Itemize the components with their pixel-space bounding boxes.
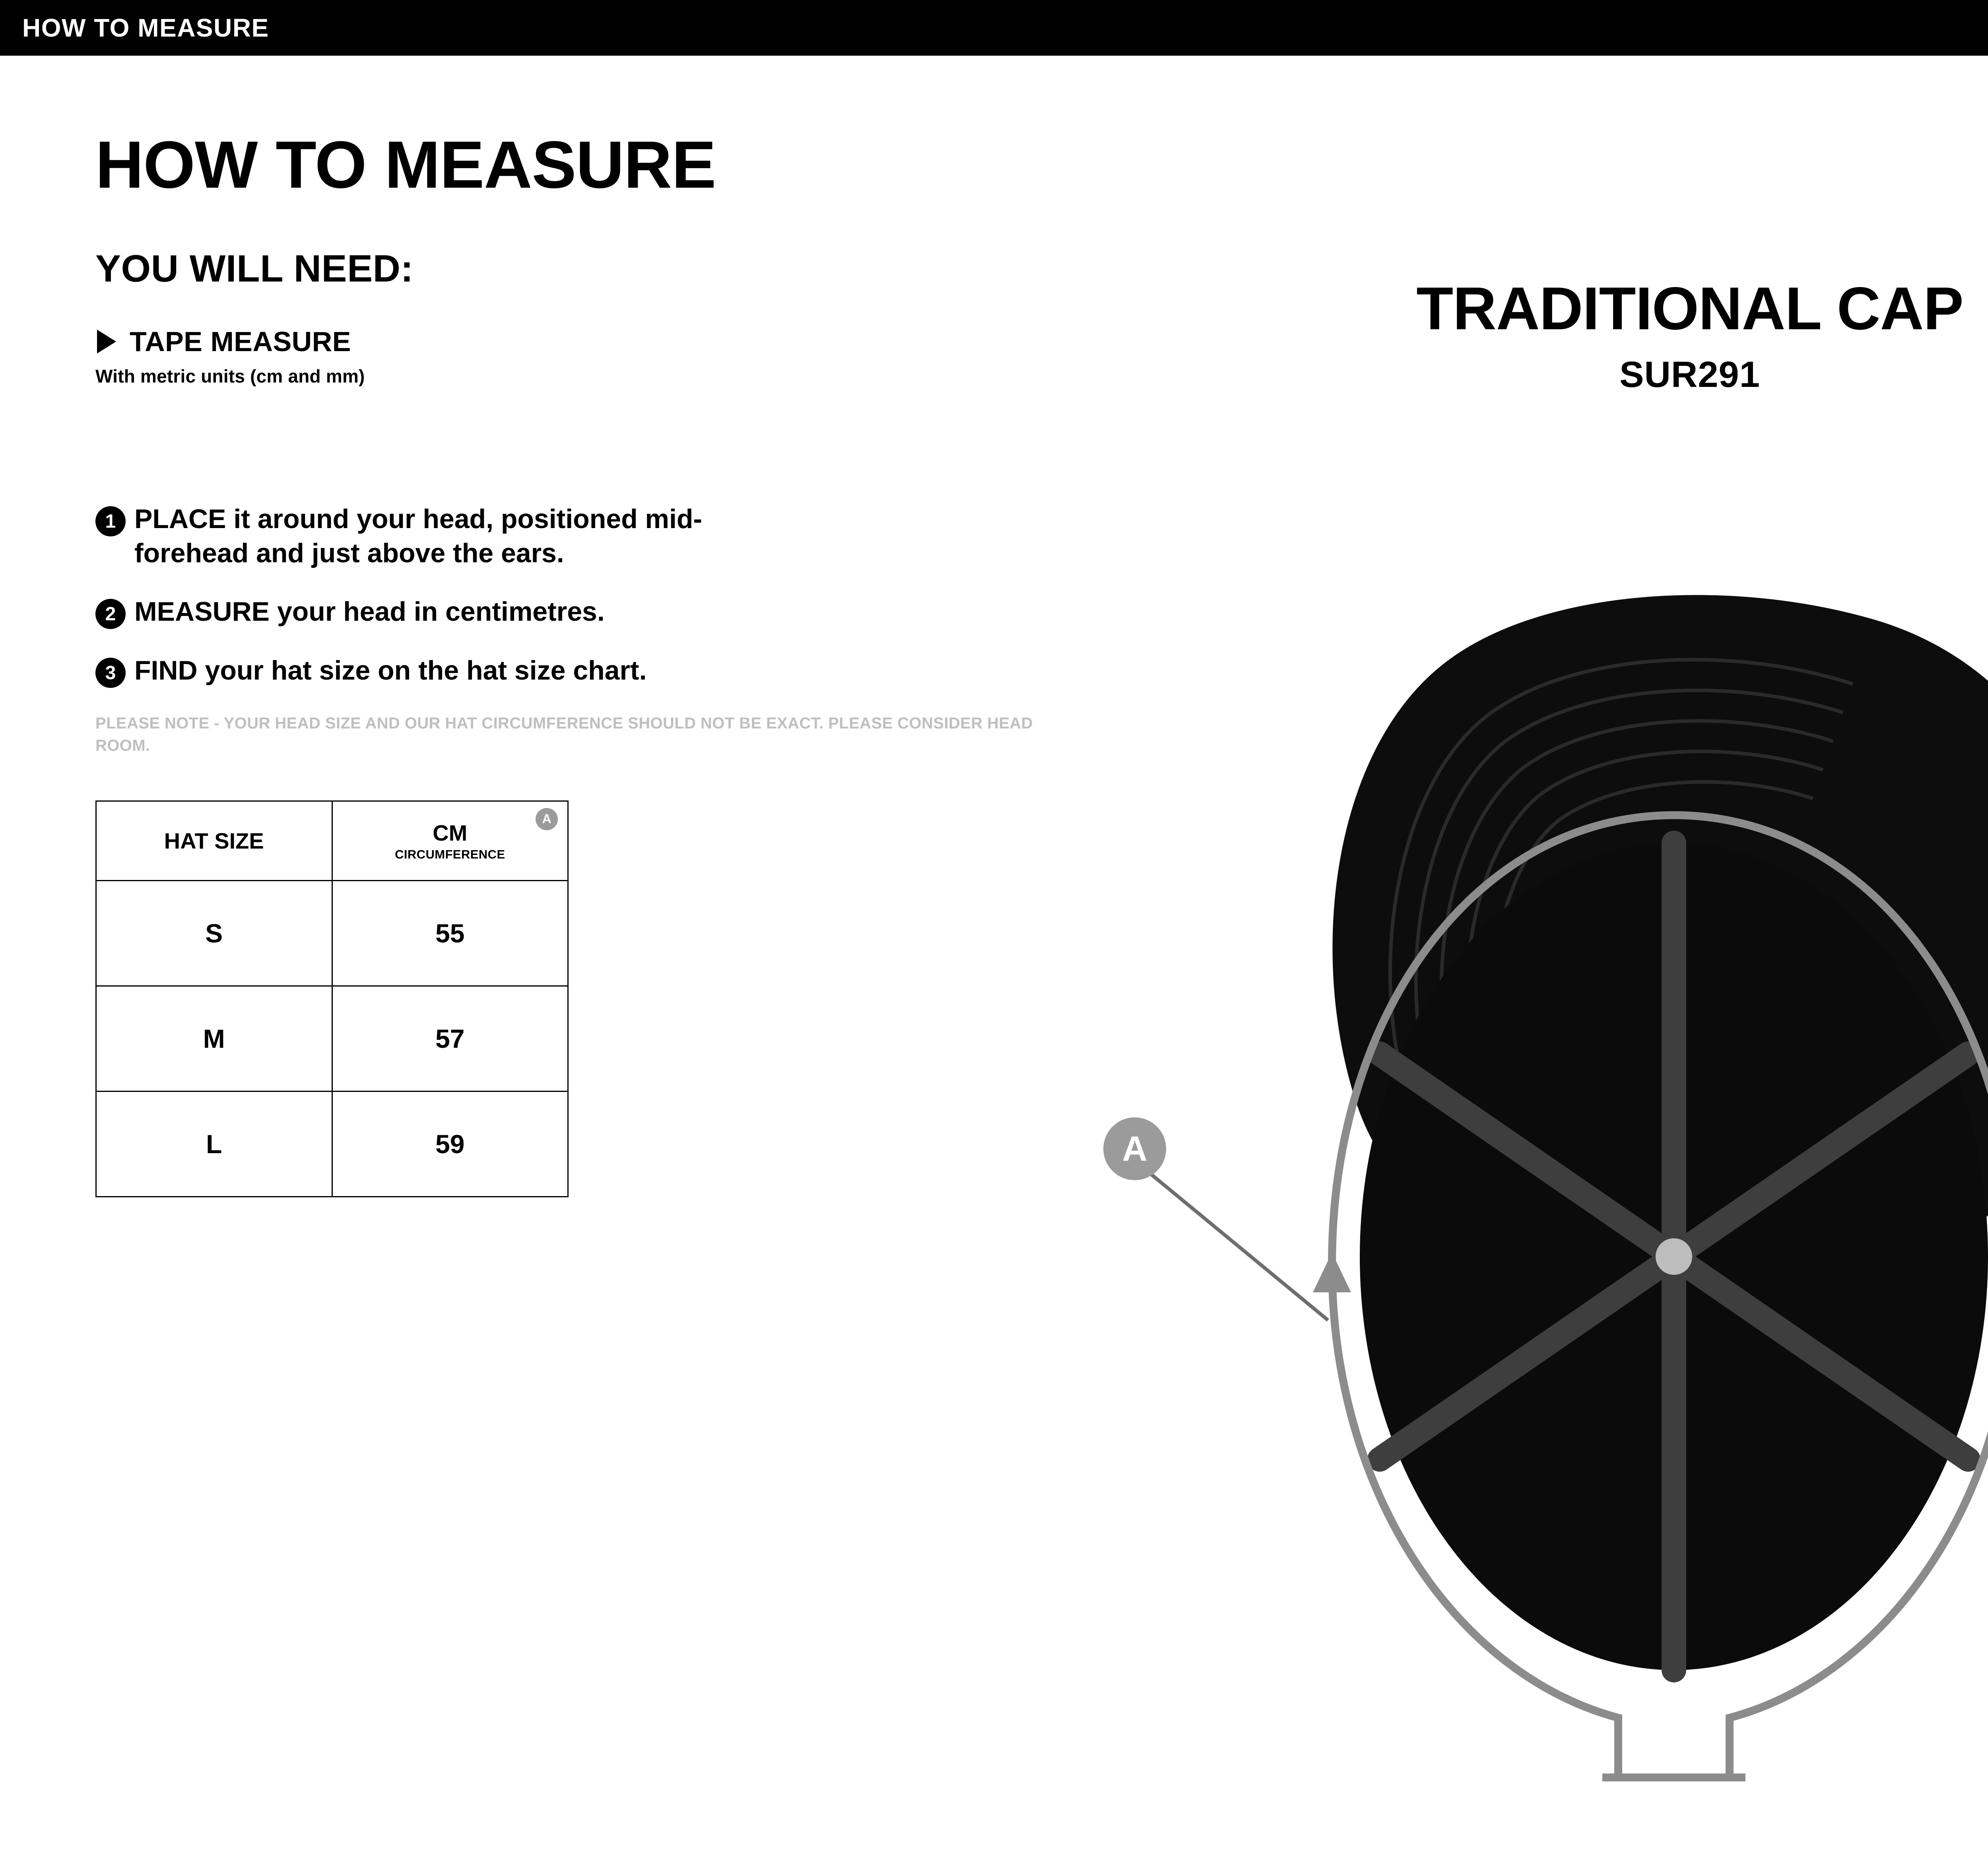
step-item: 3 FIND your hat size on the hat size cha… bbox=[95, 654, 1050, 688]
step-number-badge: 3 bbox=[95, 658, 126, 688]
need-item-label: TAPE MEASURE bbox=[130, 326, 351, 357]
table-row: L 59 bbox=[96, 1091, 568, 1196]
step-item: 2 MEASURE your head in centimetres. bbox=[95, 595, 1050, 629]
callout-leader-line bbox=[1135, 1161, 1328, 1320]
step-number-badge: 1 bbox=[95, 506, 126, 536]
table-header-cm-main: CM bbox=[333, 820, 567, 846]
cell-cm: 55 bbox=[332, 880, 568, 986]
left-column: HOW TO MEASURE YOU WILL NEED: TAPE MEASU… bbox=[95, 131, 1050, 1197]
step-item: 1 PLACE it around your head, positioned … bbox=[95, 502, 1050, 570]
table-header-row: HAT SIZE CM CIRCUMFERENCE A bbox=[96, 801, 568, 880]
top-bar: HOW TO MEASURE SS SURRIDGE bbox=[0, 0, 1988, 56]
table-row: M 57 bbox=[96, 986, 568, 1091]
step-text: MEASURE your head in centimetres. bbox=[134, 595, 605, 629]
cell-cm: 59 bbox=[332, 1091, 568, 1196]
need-item-row: TAPE MEASURE bbox=[95, 326, 1050, 357]
product-title: TRADITIONAL CAP bbox=[1074, 278, 1988, 339]
hat-size-table: HAT SIZE CM CIRCUMFERENCE A S 55 M 57 L … bbox=[95, 800, 569, 1197]
right-column: TRADITIONAL CAP SUR291 bbox=[1074, 278, 1988, 396]
step-lead-word: MEASURE bbox=[134, 596, 270, 627]
page-title: HOW TO MEASURE bbox=[95, 131, 1050, 198]
table-header-hat-size: HAT SIZE bbox=[96, 801, 332, 880]
need-item-subtext: With metric units (cm and mm) bbox=[95, 365, 1050, 387]
top-bar-title: HOW TO MEASURE bbox=[22, 13, 269, 43]
step-rest-text: your head in centimetres. bbox=[270, 596, 605, 627]
steps-list: 1 PLACE it around your head, positioned … bbox=[95, 502, 1050, 688]
table-header-cm-sub: CIRCUMFERENCE bbox=[333, 847, 567, 862]
cell-hat-size: L bbox=[96, 1091, 332, 1196]
measurement-badge-a-icon: A bbox=[536, 808, 558, 830]
step-lead-word: FIND bbox=[134, 655, 198, 686]
table-header-cm: CM CIRCUMFERENCE A bbox=[332, 801, 568, 880]
product-code: SUR291 bbox=[1074, 354, 1988, 396]
please-note-text: PLEASE NOTE - YOUR HEAD SIZE AND OUR HAT… bbox=[95, 713, 1050, 756]
cap-crown-shape bbox=[1360, 843, 1988, 1670]
step-rest-text: your hat size on the hat size chart. bbox=[198, 655, 647, 686]
triangle-bullet-icon bbox=[97, 330, 116, 354]
cell-cm: 57 bbox=[332, 986, 568, 1091]
cell-hat-size: S bbox=[96, 880, 332, 986]
step-text: FIND your hat size on the hat size chart… bbox=[134, 654, 646, 688]
step-text: PLACE it around your head, positioned mi… bbox=[134, 502, 802, 570]
you-will-need-heading: YOU WILL NEED: bbox=[95, 250, 1050, 288]
cell-hat-size: M bbox=[96, 986, 332, 1091]
arc-arrow-left-icon bbox=[1313, 1253, 1351, 1292]
table-row: S 55 bbox=[96, 880, 568, 986]
cap-diagram bbox=[1054, 565, 1988, 1849]
step-number-badge: 2 bbox=[95, 599, 126, 629]
step-lead-word: PLACE bbox=[134, 504, 226, 534]
callout-badge-a-icon: A bbox=[1103, 1117, 1166, 1180]
